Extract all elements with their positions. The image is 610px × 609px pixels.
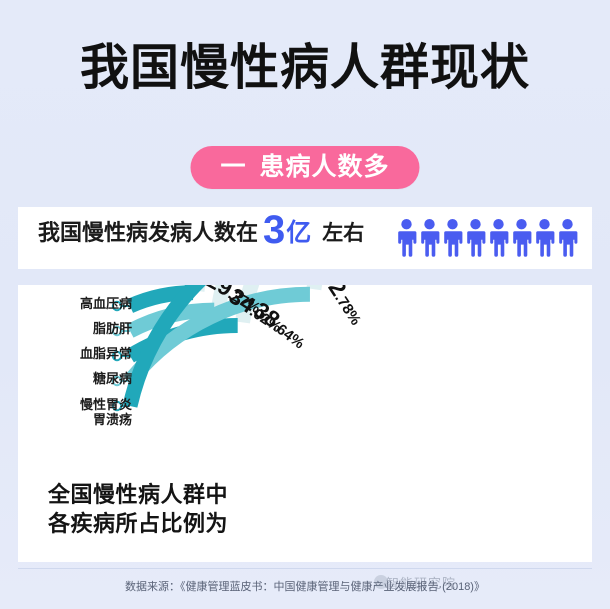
category-label-list: 高血压病 脂肪肝 血脂异常 糖尿病 慢性胃炎 胃溃疡 — [32, 297, 132, 427]
value-label-3: 62.78% — [316, 285, 371, 329]
watermark-dot-icon — [374, 575, 388, 589]
category-label-0: 高血压病 — [32, 297, 132, 311]
badge-label: 患病人数多 — [260, 155, 390, 180]
category-label-2: 血脂异常 — [32, 347, 132, 361]
people-icon-row — [396, 207, 578, 269]
category-label-4: 慢性胃炎 胃溃疡 — [32, 397, 132, 427]
stat-tail-text: 左右 — [322, 217, 364, 247]
category-label-4-line2: 胃溃疡 — [32, 412, 132, 427]
caption-line-1: 全国慢性病人群中 — [48, 480, 228, 509]
chart-caption: 全国慢性病人群中 各疾病所占比例为 — [48, 480, 228, 538]
footer-divider — [18, 568, 592, 569]
chart-card: 29.27% 34.02% 38.64% 62.78% 94.24% 高血压病 … — [18, 285, 592, 562]
person-icon — [465, 219, 486, 257]
infographic-poster: 我国慢性病人群现状 一 患病人数多 我国慢性病发病人数在 3 亿 左右 — [0, 0, 610, 609]
category-label-4-line1: 慢性胃炎 — [80, 397, 132, 412]
stat-unit: 亿 — [286, 221, 311, 246]
category-label-3: 糖尿病 — [32, 372, 132, 386]
category-label-1: 脂肪肝 — [32, 322, 132, 336]
page-title: 我国慢性病人群现状 — [0, 40, 610, 96]
section-badge: 一 患病人数多 — [190, 146, 419, 189]
caption-line-2: 各疾病所占比例为 — [48, 509, 228, 538]
person-icon — [396, 219, 417, 257]
person-icon — [442, 219, 463, 257]
stat-number: 3 — [263, 210, 285, 250]
stat-lead-text: 我国慢性病发病人数在 — [38, 215, 258, 247]
source-note: 数据来源：《健康管理蓝皮书：中国健康管理与健康产业发展报告·(2018)》 — [0, 578, 610, 594]
person-icon — [557, 219, 578, 257]
person-icon — [534, 219, 555, 257]
person-icon — [511, 219, 532, 257]
stat-text-group: 我国慢性病发病人数在 3 亿 左右 — [38, 207, 364, 269]
badge-dash: 一 — [220, 155, 245, 180]
stat-bar: 我国慢性病发病人数在 3 亿 左右 — [18, 207, 592, 269]
person-icon — [488, 219, 509, 257]
person-icon — [419, 219, 440, 257]
